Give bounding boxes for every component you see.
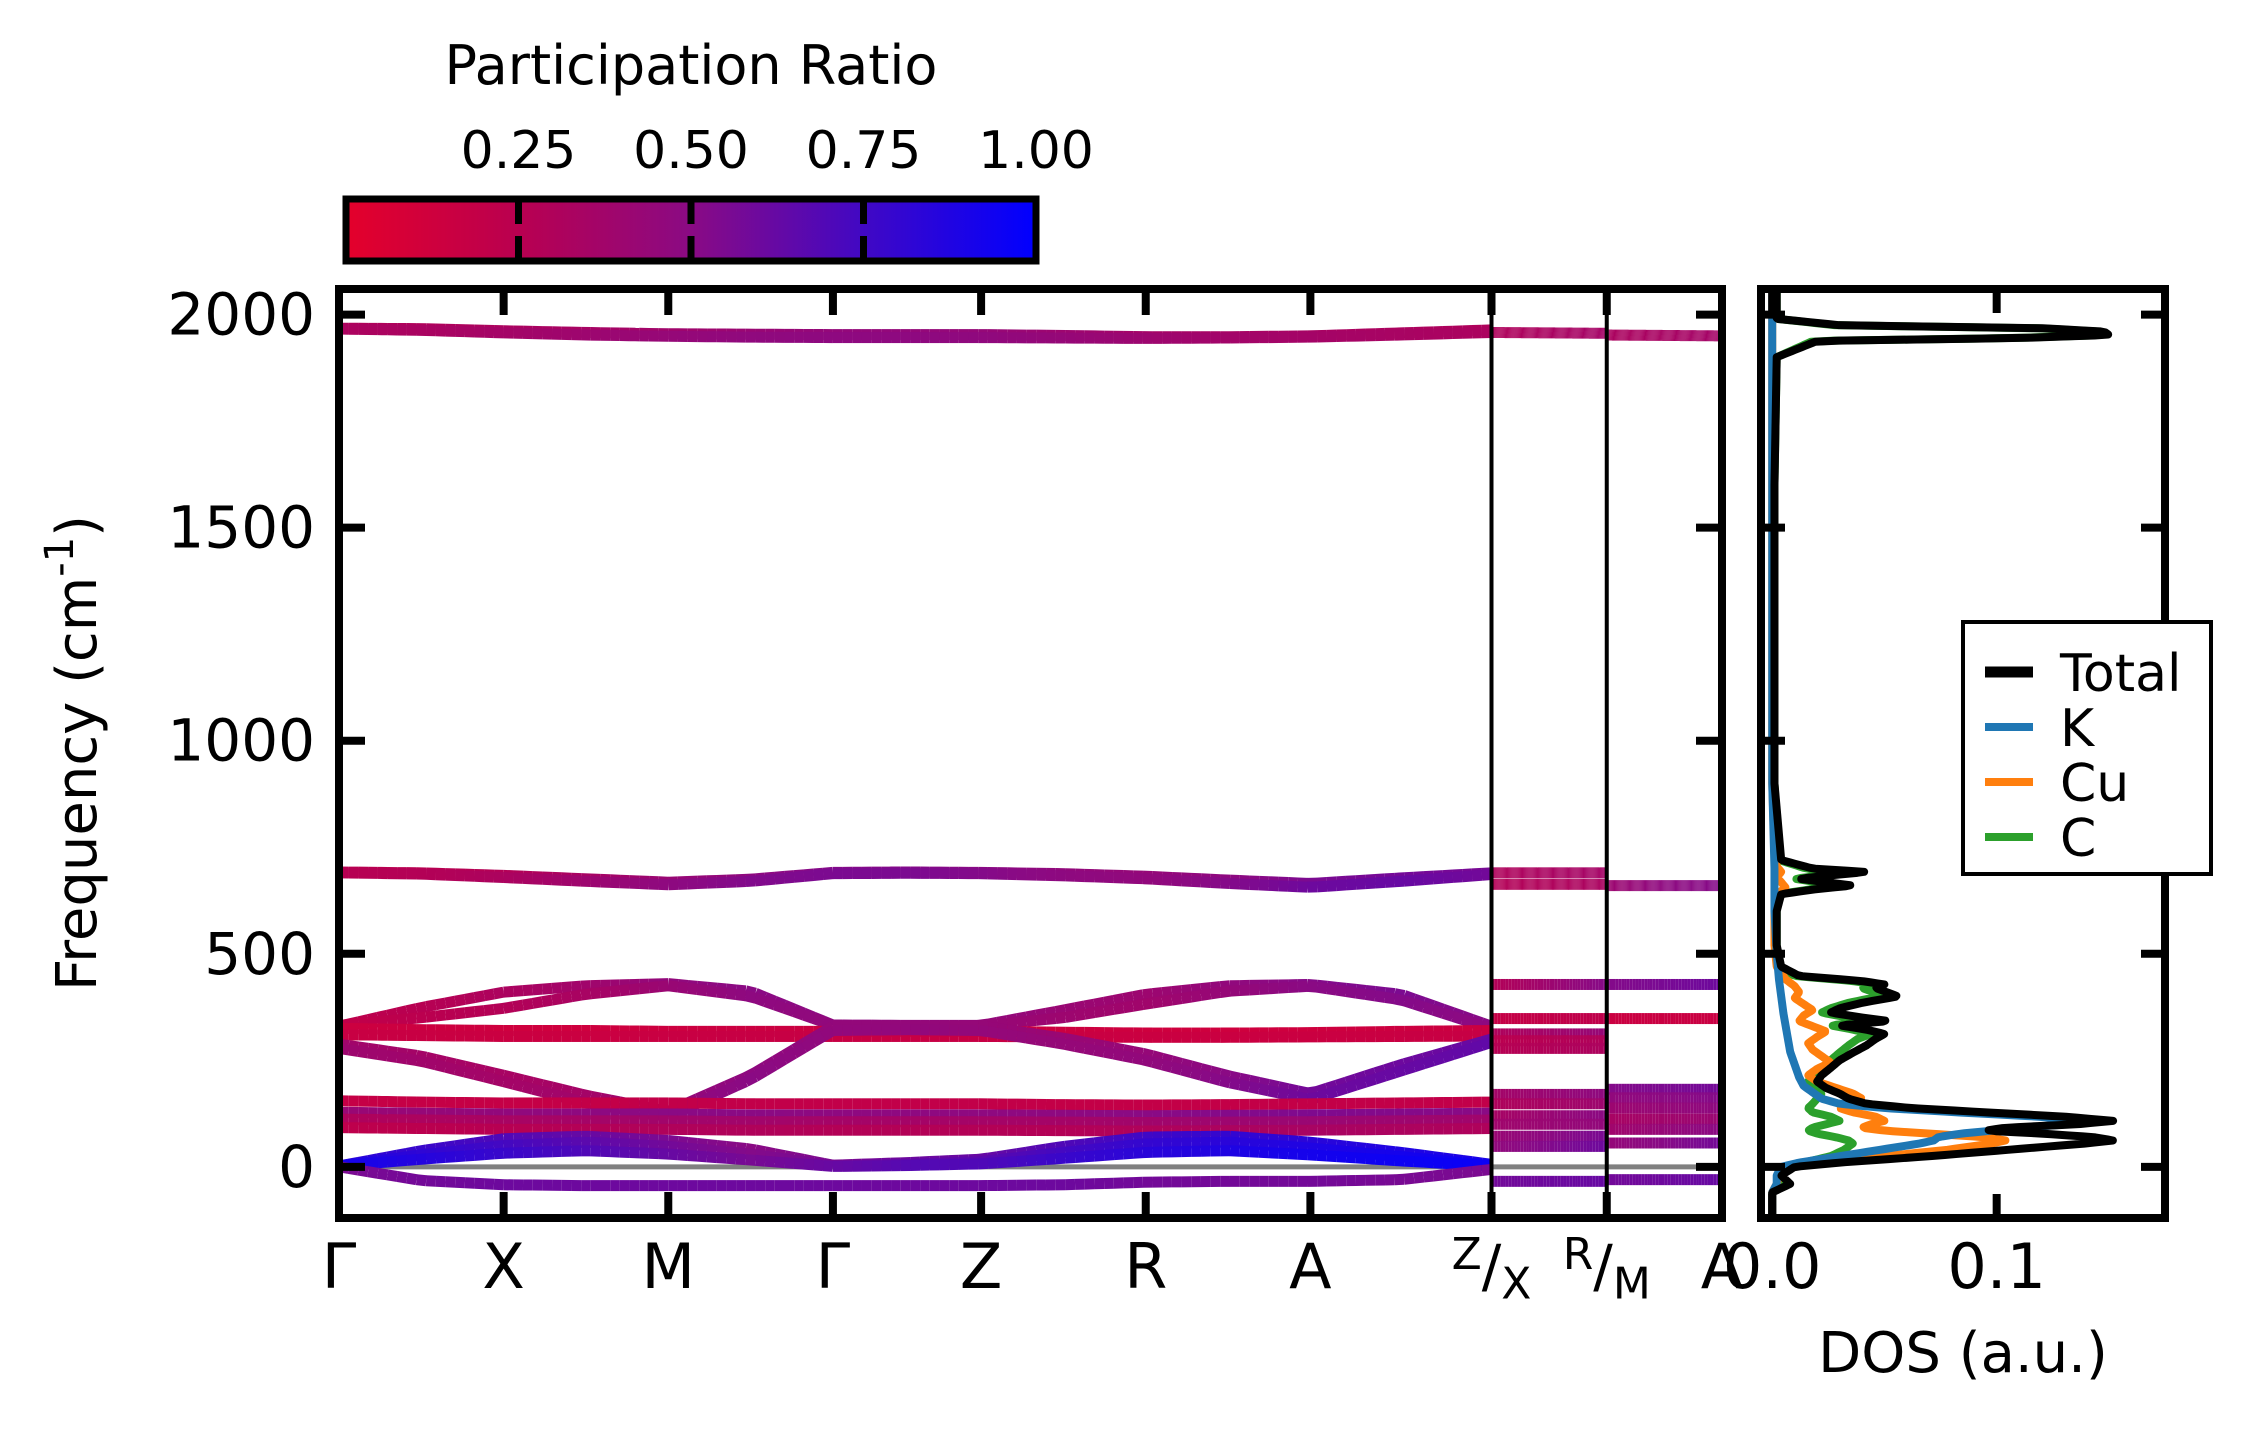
band-segment: [1211, 992, 1221, 994]
band-segment: [1269, 988, 1279, 989]
dos-legend: TotalKCuC: [1963, 622, 2211, 874]
band-segment: [1114, 999, 1124, 1001]
band-segment: [1278, 1146, 1288, 1147]
band-segment: [1317, 1149, 1327, 1150]
band-segment: [649, 1145, 659, 1146]
band-segment: [416, 1060, 426, 1062]
band-segment: [1462, 1019, 1472, 1022]
band-segment: [1443, 1055, 1453, 1058]
band-segment: [1085, 1013, 1095, 1015]
band-segment: [1443, 877, 1453, 878]
band-segment: [726, 1086, 736, 1090]
band-y-axis-label-group: Frequency (cm-1): [37, 515, 110, 991]
dos-x-axis-label: DOS (a.u.): [1818, 1321, 2108, 1386]
band-segment: [523, 990, 533, 991]
band-segment: [426, 1005, 436, 1007]
band-segment: [746, 881, 756, 882]
band-segment: [1414, 880, 1424, 881]
band-segment: [1259, 1144, 1269, 1145]
band-segment: [407, 1178, 417, 1180]
band-segment: [446, 1182, 456, 1183]
band-x-tick-label: M: [642, 1230, 696, 1303]
band-segment: [1123, 1006, 1133, 1008]
band-segment: [794, 1163, 804, 1164]
band-segment: [1046, 1041, 1056, 1043]
band-segment: [688, 988, 698, 989]
band-segment: [1094, 1155, 1104, 1156]
band-segment: [1017, 1021, 1027, 1022]
band-segment: [465, 1155, 475, 1156]
band-segment: [552, 998, 562, 1000]
band-segment: [814, 1036, 824, 1042]
band-segment: [1133, 1005, 1143, 1007]
band-segment: [1249, 1144, 1259, 1145]
band-segment: [1104, 1052, 1114, 1054]
band-segment: [465, 1149, 475, 1150]
band-segment: [1172, 991, 1182, 992]
band-segment: [1472, 1171, 1482, 1172]
band-segment: [1337, 990, 1347, 991]
band-segment: [659, 1140, 669, 1141]
band-segment: [736, 995, 746, 996]
band-segment: [1278, 1093, 1288, 1095]
band-segment: [755, 880, 765, 881]
band-segment: [1337, 1088, 1347, 1091]
band-segment: [1375, 882, 1385, 883]
band-segment: [1375, 996, 1385, 997]
band-segment: [823, 874, 833, 875]
band-segment: [1191, 996, 1201, 998]
band-segment: [1075, 1014, 1085, 1016]
band-segment: [1414, 1004, 1424, 1007]
band-segment: [1346, 1085, 1356, 1088]
band-segment: [1259, 989, 1269, 990]
band-segment: [1356, 884, 1366, 885]
band-segment: [416, 1007, 426, 1009]
band-segment: [407, 1009, 417, 1011]
band-segment: [1337, 1157, 1347, 1158]
band-segment: [1443, 1163, 1453, 1164]
band-y-tick-label: 2000: [167, 281, 315, 349]
band-segment: [746, 996, 756, 998]
band-segment: [1298, 1154, 1308, 1155]
band-segment: [1404, 1001, 1414, 1004]
band-segment: [1472, 1045, 1482, 1048]
band-segment: [1182, 1070, 1192, 1073]
band-y-axis-label: Frequency (cm-1): [37, 515, 110, 991]
legend-label-c: C: [2060, 809, 2096, 869]
band-segment: [1395, 1070, 1405, 1073]
band-segment: [494, 1008, 504, 1009]
band-segment: [1288, 1095, 1298, 1097]
band-segment: [465, 1183, 475, 1184]
band-segment: [804, 875, 814, 876]
band-segment: [717, 1151, 727, 1152]
band-segment: [494, 1146, 504, 1147]
band-segment: [1133, 1144, 1143, 1145]
band-segment: [1065, 1045, 1075, 1047]
band-segment: [736, 1082, 746, 1086]
band-segment: [1085, 1048, 1095, 1050]
band-segment: [620, 1144, 630, 1145]
band-segment: [533, 989, 543, 990]
band-segment: [446, 1067, 456, 1069]
band-segment: [1027, 1160, 1037, 1161]
band-segment: [494, 992, 504, 994]
band-segment: [1249, 989, 1259, 990]
band-segment: [513, 991, 523, 992]
band-segment: [484, 1147, 494, 1148]
band-segment: [1065, 1016, 1075, 1018]
band-segment: [1056, 1158, 1066, 1159]
band-segment: [407, 1160, 417, 1161]
band-segment: [523, 1003, 533, 1005]
band-segment: [378, 1054, 388, 1056]
band-segment: [533, 1089, 543, 1092]
colorbar-tick-label: 1.00: [978, 121, 1094, 181]
band-segment: [649, 987, 659, 988]
band-segment: [1201, 1075, 1211, 1078]
band-segment: [1123, 1138, 1133, 1139]
band-segment: [1065, 1157, 1075, 1158]
band-segment: [475, 1074, 485, 1076]
band-segment: [1075, 1150, 1085, 1151]
band-segment: [407, 1059, 417, 1061]
band-segment: [1104, 1141, 1114, 1142]
band-segment: [1453, 1164, 1463, 1165]
band-segment: [1443, 1013, 1453, 1016]
band-segment: [659, 1146, 669, 1147]
band-segment: [1027, 1020, 1037, 1021]
band-segment: [1027, 1038, 1037, 1040]
band-segment: [610, 991, 620, 992]
band-segment: [1182, 881, 1192, 882]
band-segment: [552, 1094, 562, 1097]
band-segment: [688, 1155, 698, 1156]
band-segment: [1094, 1148, 1104, 1149]
band-segment: [1191, 989, 1201, 990]
band-segment: [1094, 1142, 1104, 1143]
band-segment: [1065, 1151, 1075, 1152]
band-segment: [397, 1057, 407, 1059]
band-segment: [397, 1176, 407, 1178]
band-segment: [475, 1148, 485, 1149]
band-segment: [387, 1161, 397, 1162]
band-segment: [1327, 1156, 1337, 1157]
band-segment: [1075, 1157, 1085, 1158]
band-segment: [1317, 987, 1327, 988]
band-segment: [1220, 883, 1230, 884]
band-segment: [785, 1008, 795, 1011]
band-segment: [436, 1003, 446, 1005]
band-segment: [1269, 1145, 1279, 1146]
band-segment: [484, 1154, 494, 1155]
band-segment: [978, 1163, 988, 1164]
band-segment: [630, 1144, 640, 1145]
band-segment: [465, 998, 475, 1000]
band-segment: [717, 1158, 727, 1159]
band-segment: [1153, 1002, 1163, 1004]
band-segment: [446, 1014, 456, 1015]
band-segment: [630, 989, 640, 990]
band-segment: [1424, 1176, 1434, 1177]
band-segment: [639, 1145, 649, 1146]
band-segment: [804, 1015, 814, 1018]
band-segment: [591, 993, 601, 994]
band-segment: [1153, 1062, 1163, 1065]
band-segment: [571, 986, 581, 987]
band-segment: [765, 1002, 775, 1005]
band-segment: [1288, 987, 1298, 988]
band-segment: [1143, 1060, 1153, 1062]
band-segment: [1327, 1150, 1337, 1151]
band-x-tick-label: A: [1289, 1230, 1331, 1303]
band-segment: [746, 1077, 756, 1082]
band-segment: [1230, 1083, 1240, 1085]
band-y-tick-label: 0: [278, 1133, 315, 1201]
band-segment: [1259, 1089, 1269, 1091]
band-segment: [387, 1020, 397, 1021]
band-segment: [378, 1162, 388, 1163]
band-segment: [1307, 1155, 1317, 1156]
band-segment: [814, 875, 824, 876]
band-segment: [1375, 1076, 1385, 1079]
band-segment: [1220, 1080, 1230, 1082]
band-segment: [542, 1092, 552, 1095]
band-segment: [1172, 880, 1182, 881]
band-segment: [416, 1017, 426, 1018]
band-segment: [639, 1139, 649, 1140]
band-x-tick-label: R: [1124, 1230, 1167, 1303]
band-segment: [707, 1157, 717, 1158]
band-segment: [775, 878, 785, 879]
band-segment: [368, 1163, 378, 1164]
band-segment: [455, 1013, 465, 1014]
band-segment: [1162, 880, 1172, 881]
band-segment: [1356, 1082, 1366, 1085]
band-segment: [1133, 1153, 1143, 1154]
band-segment: [426, 1181, 436, 1182]
band-segment: [794, 1012, 804, 1015]
band-segment: [1104, 1147, 1114, 1148]
band-segment: [1104, 1009, 1114, 1011]
band-segment: [1065, 1008, 1075, 1010]
band-segment: [436, 1065, 446, 1067]
band-segment: [1123, 997, 1133, 999]
band-segment: [726, 1158, 736, 1159]
band-segment: [659, 986, 669, 987]
band-segment: [1462, 1172, 1472, 1173]
band-segment: [1433, 1163, 1443, 1164]
band-segment: [1182, 997, 1192, 999]
band-segment: [494, 1079, 504, 1081]
band-segment: [475, 996, 485, 998]
band-segment: [475, 1011, 485, 1012]
band-segment: [1356, 1158, 1366, 1159]
band-segment: [1114, 1154, 1124, 1155]
band-segment: [1191, 881, 1201, 882]
band-segment: [513, 1005, 523, 1007]
band-segment: [1366, 1159, 1376, 1160]
band-segment: [746, 1160, 756, 1161]
band-segment: [455, 1182, 465, 1183]
band-x-tick-label: X: [482, 1230, 524, 1303]
band-segment: [455, 999, 465, 1001]
band-segment: [426, 1062, 436, 1064]
band-segment: [368, 1172, 378, 1174]
band-segment: [1424, 879, 1434, 880]
band-segment: [446, 1157, 456, 1158]
band-segment: [1327, 989, 1337, 990]
band-segment: [1240, 1143, 1250, 1144]
band-segment: [397, 1011, 407, 1013]
band-segment: [785, 1163, 795, 1164]
band-segment: [639, 988, 649, 989]
band-segment: [426, 1158, 436, 1159]
band-segment: [668, 1154, 678, 1155]
band-segment: [668, 986, 678, 987]
band-segment: [1133, 1137, 1143, 1138]
band-x-tick-label: Γ: [322, 1230, 357, 1303]
band-segment: [436, 1015, 446, 1016]
band-segment: [736, 1159, 746, 1160]
band-segment: [1133, 1058, 1143, 1060]
band-segment: [600, 992, 610, 993]
band-segment: [1230, 1142, 1240, 1143]
band-segment: [988, 1032, 998, 1034]
band-segment: [504, 1007, 514, 1009]
band-segment: [494, 1139, 504, 1140]
band-segment: [1153, 879, 1163, 880]
band-segment: [1346, 1157, 1356, 1158]
band-segment: [523, 1087, 533, 1090]
band-segment: [1123, 1153, 1133, 1154]
band-segment: [1424, 1162, 1434, 1163]
band-segment: [1346, 992, 1356, 993]
band-segment: [988, 1163, 998, 1164]
band-segment: [368, 1053, 378, 1055]
band-segment: [1385, 997, 1395, 998]
phonon-figure: Participation Ratio 0.250.500.751.00 050…: [0, 0, 2259, 1455]
band-segment: [620, 1138, 630, 1139]
band-segment: [717, 992, 727, 993]
band-segment: [475, 1183, 485, 1184]
band-segment: [581, 1094, 591, 1096]
band-segment: [1433, 1010, 1443, 1013]
band-segment: [436, 1157, 446, 1158]
band-segment: [581, 994, 591, 995]
band-segment: [1298, 986, 1308, 987]
band-segment: [1094, 1002, 1104, 1004]
band-segment: [387, 1175, 397, 1177]
band-segment: [1366, 883, 1376, 884]
band-segment: [562, 987, 572, 988]
band-segment: [697, 1156, 707, 1157]
band-segment: [804, 1164, 814, 1165]
band-segment: [465, 1012, 475, 1013]
band-segment: [668, 1146, 678, 1147]
band-segment: [1404, 1178, 1414, 1179]
legend-label-total: Total: [2059, 644, 2181, 704]
band-segment: [1307, 1148, 1317, 1149]
band-segment: [1453, 1016, 1463, 1019]
band-segment: [726, 1152, 736, 1153]
band-segment: [1123, 1056, 1133, 1058]
band-segment: [416, 1180, 426, 1181]
band-segment: [1375, 1159, 1385, 1160]
band-segment: [1424, 1007, 1434, 1010]
band-segment: [1085, 1156, 1095, 1157]
band-segment: [1269, 1153, 1279, 1154]
band-segment: [1056, 1043, 1066, 1045]
band-segment: [1462, 876, 1472, 877]
band-segment: [1104, 1000, 1114, 1002]
band-segment: [494, 1184, 504, 1185]
band-segment: [1433, 1175, 1443, 1176]
band-segment: [1414, 1162, 1424, 1163]
band-segment: [1395, 999, 1405, 1001]
band-segment: [1085, 1004, 1095, 1006]
band-segment: [1385, 1160, 1395, 1161]
band-segment: [620, 990, 630, 991]
band-segment: [484, 1009, 494, 1010]
legend-label-cu: Cu: [2060, 754, 2129, 814]
band-segment: [484, 1077, 494, 1079]
band-segment: [755, 1160, 765, 1161]
band-segment: [998, 1162, 1008, 1163]
band-segment: [1453, 1173, 1463, 1174]
band-segment: [1404, 1161, 1414, 1162]
band-segment: [1337, 885, 1347, 886]
band-segment: [494, 1153, 504, 1154]
band-segment: [794, 876, 804, 877]
band-segment: [542, 988, 552, 989]
band-segment: [1162, 1065, 1172, 1068]
band-segment: [542, 1000, 552, 1002]
band-segment: [765, 879, 775, 880]
band-segment: [1327, 1091, 1337, 1094]
band-segment: [785, 877, 795, 878]
band-segment: [1046, 1018, 1056, 1019]
band-segment: [581, 986, 591, 987]
band-x-tick-label: Z: [960, 1230, 1002, 1303]
band-segment: [358, 1051, 368, 1053]
band-segment: [688, 1148, 698, 1149]
band-segment: [978, 1030, 988, 1031]
band-segment: [475, 1155, 485, 1156]
band-segment: [1404, 880, 1414, 881]
band-segment: [446, 1001, 456, 1003]
band-segment: [465, 1072, 475, 1074]
band-segment: [1075, 1006, 1085, 1008]
band-segment: [513, 1084, 523, 1087]
band-segment: [775, 1059, 785, 1065]
band-segment: [1298, 1147, 1308, 1148]
band-segment: [1114, 1054, 1124, 1056]
dos-x-tick-label: 0.1: [1947, 1230, 2046, 1303]
band-segment: [1395, 1179, 1405, 1180]
band-segment: [1424, 1061, 1434, 1064]
legend-label-k: K: [2060, 699, 2096, 759]
band-segment: [533, 1002, 543, 1004]
band-segment: [1191, 1073, 1201, 1076]
band-segment: [1433, 878, 1443, 879]
band-segment: [998, 1033, 1008, 1035]
band-segment: [378, 1021, 388, 1022]
band-segment: [1046, 1011, 1056, 1013]
band-segment: [1385, 882, 1395, 883]
band-segment: [571, 1092, 581, 1094]
